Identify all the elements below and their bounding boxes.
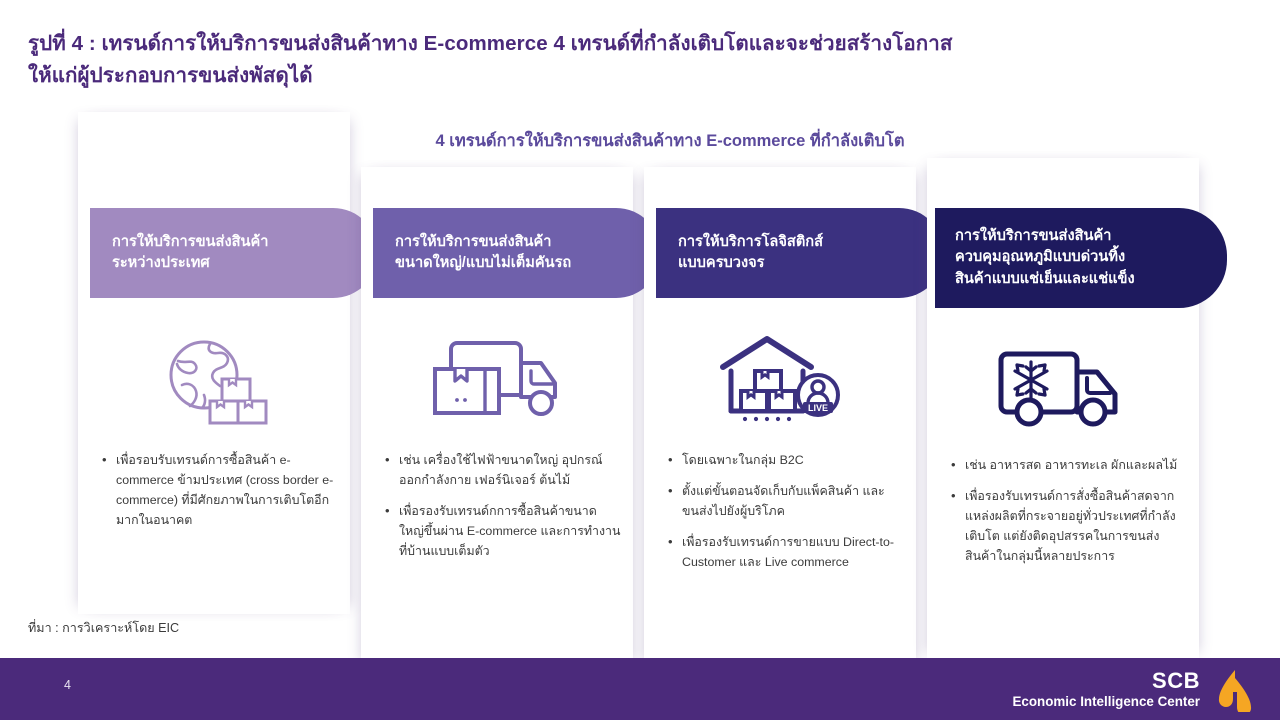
trend-card-4-header-line2: ควบคุมอุณหภูมิแบบด่วนทิ้ง [955, 247, 1135, 268]
trend-card-3-header: การให้บริการโลจิสติกส์ แบบครบวงจร [656, 208, 944, 298]
brand-text: SCB Economic Intelligence Center [1012, 669, 1200, 709]
brand-name: SCB [1012, 669, 1200, 694]
list-item: เพื่อรองรับเทรนด์การขายแบบ Direct-to-Cus… [682, 532, 904, 572]
trend-card-4-header-line3: สินค้าแบบแช่เย็นและแช่แข็ง [955, 269, 1135, 290]
brand-logo: SCB Economic Intelligence Center [1012, 666, 1258, 712]
slide: รูปที่ 4 : เทรนด์การให้บริการขนส่งสินค้า… [0, 0, 1280, 720]
trend-card-4-header-line1: การให้บริการขนส่งสินค้า [955, 226, 1135, 247]
warehouse-live-icon: LIVE [644, 328, 916, 438]
list-item: เช่น เครื่องใช้ไฟฟ้าขนาดใหญ่ อุปกรณ์ออกก… [399, 450, 621, 490]
trend-card-4-bullets: เช่น อาหารสด อาหารทะเล ผักและผลไม้ เพื่อ… [949, 455, 1187, 577]
trend-card-2-bullets: เช่น เครื่องใช้ไฟฟ้าขนาดใหญ่ อุปกรณ์ออกก… [383, 450, 621, 572]
trend-card-3: การให้บริการโลจิสติกส์ แบบครบวงจร [644, 167, 916, 669]
refrigerated-truck-icon [927, 333, 1199, 443]
trend-card-1-header-line1: การให้บริการขนส่งสินค้า [112, 232, 268, 253]
scb-leaf-icon [1212, 666, 1258, 712]
trend-card-1-bullets: เพื่อรอบรับเทรนด์การซื้อสินค้า e-commerc… [100, 450, 338, 541]
trend-card-1-header: การให้บริการขนส่งสินค้า ระหว่างประเทศ [90, 208, 378, 298]
title-line-1: รูปที่ 4 : เทรนด์การให้บริการขนส่งสินค้า… [28, 28, 1168, 60]
list-item: เพื่อรอบรับเทรนด์การซื้อสินค้า e-commerc… [116, 450, 338, 530]
list-item: เพื่อรองรับเทรนด์การสั่งซื้อสินค้าสดจากแ… [965, 486, 1187, 566]
svg-text:LIVE: LIVE [808, 403, 828, 413]
brand-tagline: Economic Intelligence Center [1012, 694, 1200, 709]
trend-card-4-header: การให้บริการขนส่งสินค้า ควบคุมอุณหภูมิแบ… [935, 208, 1227, 308]
trend-card-1: การให้บริการขนส่งสินค้า ระหว่างประเทศ [78, 112, 350, 614]
trend-card-2-header: การให้บริการขนส่งสินค้า ขนาดใหญ่/แบบไม่เ… [373, 208, 661, 298]
list-item: เพื่อรองรับเทรนด์กการซื้อสินค้าขนาดใหญ่ข… [399, 501, 621, 561]
page-title: รูปที่ 4 : เทรนด์การให้บริการขนส่งสินค้า… [28, 28, 1168, 92]
trend-card-4: การให้บริการขนส่งสินค้า ควบคุมอุณหภูมิแบ… [927, 158, 1199, 660]
list-item: เช่น อาหารสด อาหารทะเล ผักและผลไม้ [965, 455, 1187, 475]
title-line-2: ให้แก่ผู้ประกอบการขนส่งพัสดุได้ [28, 60, 1168, 92]
trend-card-2: การให้บริการขนส่งสินค้า ขนาดใหญ่/แบบไม่เ… [361, 167, 633, 669]
trend-card-3-header-line2: แบบครบวงจร [678, 253, 823, 274]
trend-columns: การให้บริการขนส่งสินค้า ระหว่างประเทศ [78, 112, 1208, 614]
source-note: ที่มา : การวิเคราะห์โดย EIC [28, 618, 179, 638]
trend-card-2-header-line1: การให้บริการขนส่งสินค้า [395, 232, 571, 253]
globe-boxes-icon [78, 328, 350, 438]
list-item: โดยเฉพาะในกลุ่ม B2C [682, 450, 904, 470]
trend-card-3-header-line1: การให้บริการโลจิสติกส์ [678, 232, 823, 253]
trend-card-2-header-line2: ขนาดใหญ่/แบบไม่เต็มคันรถ [395, 253, 571, 274]
trend-card-3-bullets: โดยเฉพาะในกลุ่ม B2C ตั้งแต่ขั้นตอนจัดเก็… [666, 450, 904, 583]
trend-card-1-header-line2: ระหว่างประเทศ [112, 253, 268, 274]
list-item: ตั้งแต่ขั้นตอนจัดเก็บกับแพ็คสินค้า และขน… [682, 481, 904, 521]
page-number: 4 [64, 678, 71, 692]
box-truck-icon [361, 328, 633, 438]
